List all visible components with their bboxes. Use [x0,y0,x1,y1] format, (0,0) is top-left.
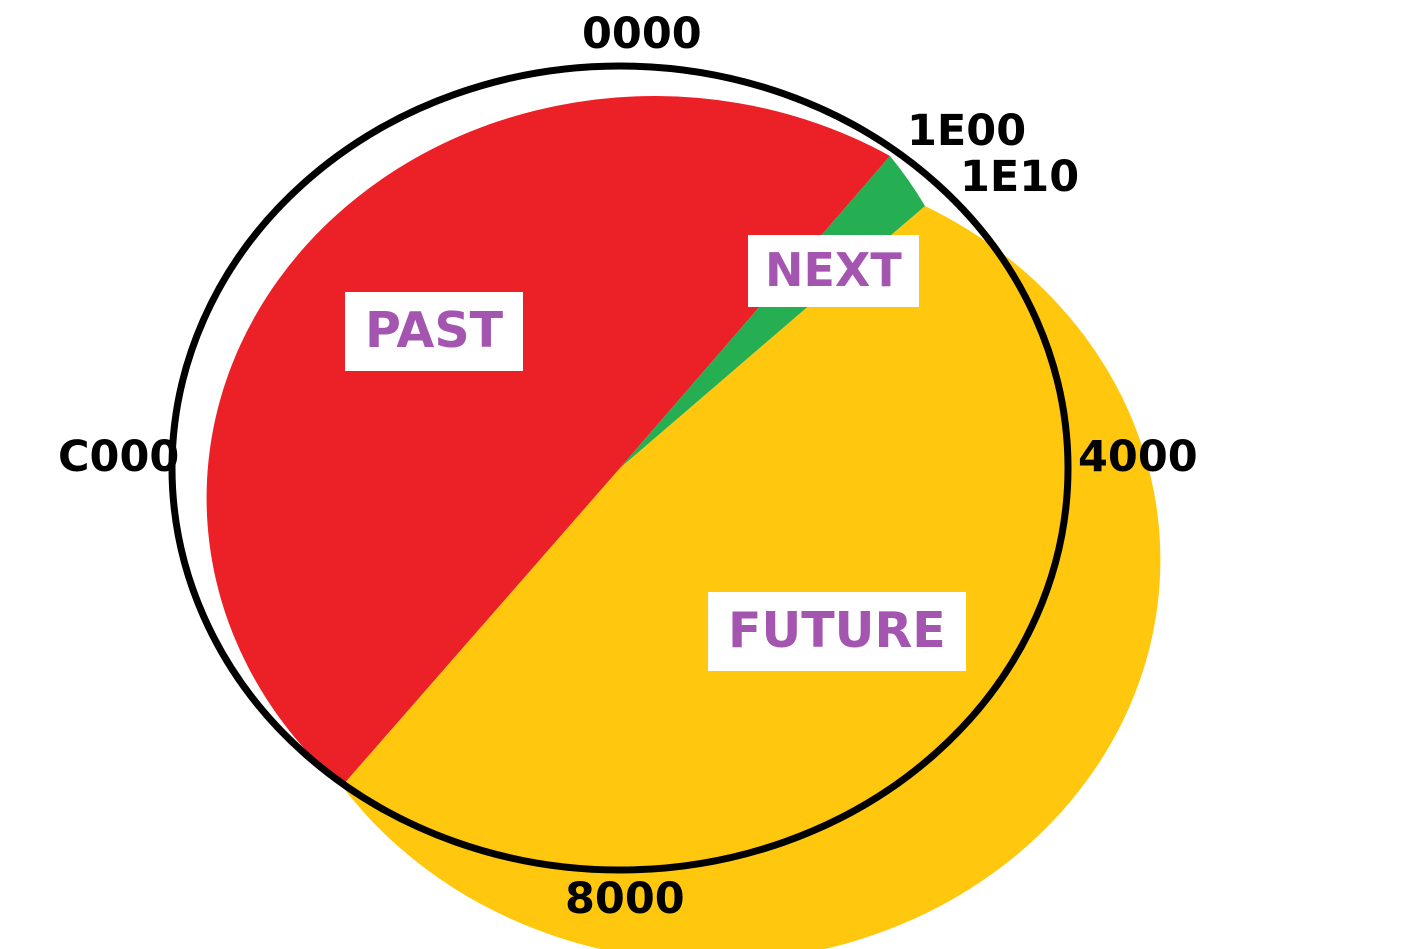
sector-label-past: PAST [345,292,523,371]
ring-label-c000: C000 [58,432,179,482]
sector-label-next: NEXT [748,235,919,307]
diagram-canvas: 0000 1E00 1E10 4000 8000 C000 PAST NEXT … [0,0,1404,949]
ring-label-4000: 4000 [1078,432,1198,482]
ring-label-1e10: 1E10 [960,152,1079,202]
sector-label-future: FUTURE [708,592,966,671]
ring-label-8000: 8000 [565,874,685,924]
ring-label-1e00: 1E00 [907,106,1026,156]
ring-label-0000: 0000 [582,9,702,59]
